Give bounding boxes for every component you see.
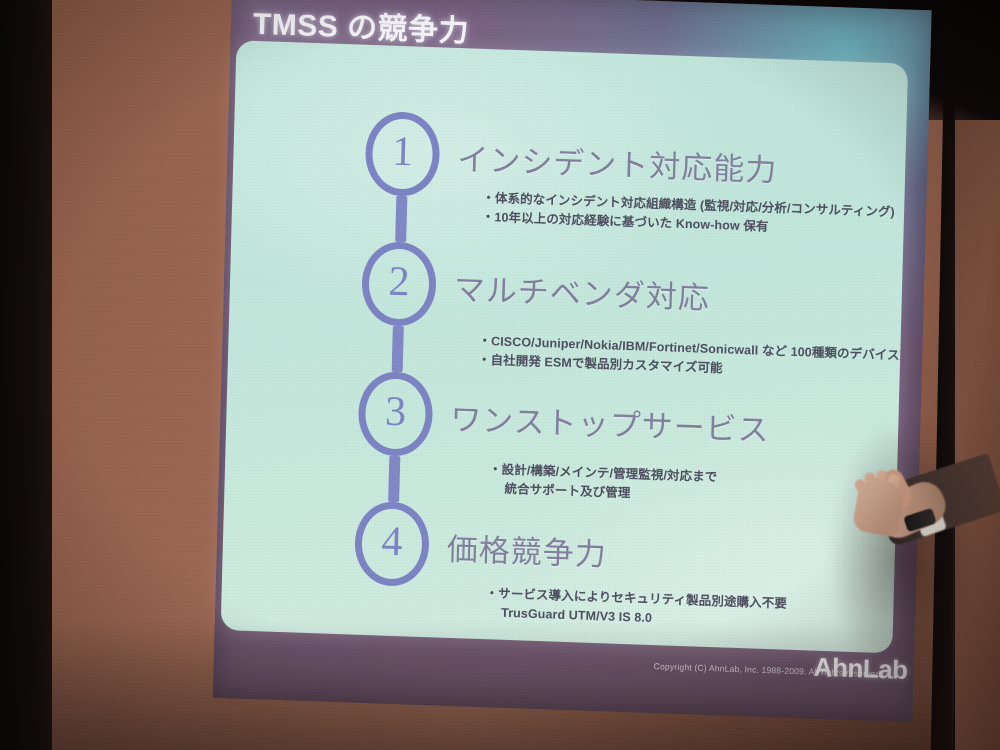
step-number-1: 1: [392, 131, 414, 174]
ahnlab-logo: AhnLab: [813, 652, 908, 686]
step-circle-3: 3: [357, 371, 433, 458]
item-bullets-2: ・CISCO/Juniper/Nokia/IBM/Fortinet/Sonicw…: [452, 331, 908, 386]
numbered-chain: 1 2 3 4: [346, 110, 449, 583]
step-circle-4: 4: [354, 501, 430, 588]
item-heading-4: 価格競争力: [446, 524, 788, 581]
step-number-3: 3: [384, 391, 406, 434]
item-heading-1: インシデント対応能力: [457, 134, 897, 194]
projection-screen: TMSS の競争力 1 2 3: [213, 0, 932, 722]
slide-item-3: ワンストップサービス ・設計/構築/メインテ/管理監視/対応まで 統合サポート及…: [448, 394, 770, 509]
item-bullets-4: ・サービス導入によりセキュリティ製品別途購入不要 TrusGuard UTM/V…: [445, 583, 787, 634]
room-left-dark-wall: [0, 0, 58, 750]
slide-item-1: インシデント対応能力 ・体系的なインシデント対応組織構造 (監視/対応/分析/コ…: [456, 134, 897, 242]
screenshot-root: TMSS の競争力 1 2 3: [0, 0, 1000, 750]
item-heading-3: ワンストップサービス: [450, 394, 770, 450]
connector-1-2: [395, 196, 407, 242]
step-circle-1: 1: [364, 111, 440, 198]
content-panel: 1 2 3 4 インシデント対応能力 ・体系的なイン: [221, 40, 909, 653]
step-number-2: 2: [388, 261, 410, 304]
item-heading-2: マルチベンダ対応: [453, 264, 908, 325]
connector-2-3: [392, 326, 404, 372]
step-circle-2: 2: [361, 241, 437, 328]
connector-3-4: [388, 456, 400, 502]
item-bullets-1: ・体系的なインシデント対応組織構造 (監視/対応/分析/コンサルティング) ・1…: [456, 188, 895, 242]
room-right-wall-panel: [955, 0, 1000, 750]
step-number-4: 4: [381, 521, 403, 564]
slide-item-4: 価格競争力 ・サービス導入によりセキュリティ製品別途購入不要 TrusGuard…: [445, 524, 789, 634]
item-bullets-3: ・設計/構築/メインテ/管理監視/対応まで 統合サポート及び管理: [448, 459, 768, 509]
slide-item-2: マルチベンダ対応 ・CISCO/Juniper/Nokia/IBM/Fortin…: [452, 264, 908, 386]
slide-canvas: TMSS の競争力 1 2 3: [213, 0, 932, 722]
